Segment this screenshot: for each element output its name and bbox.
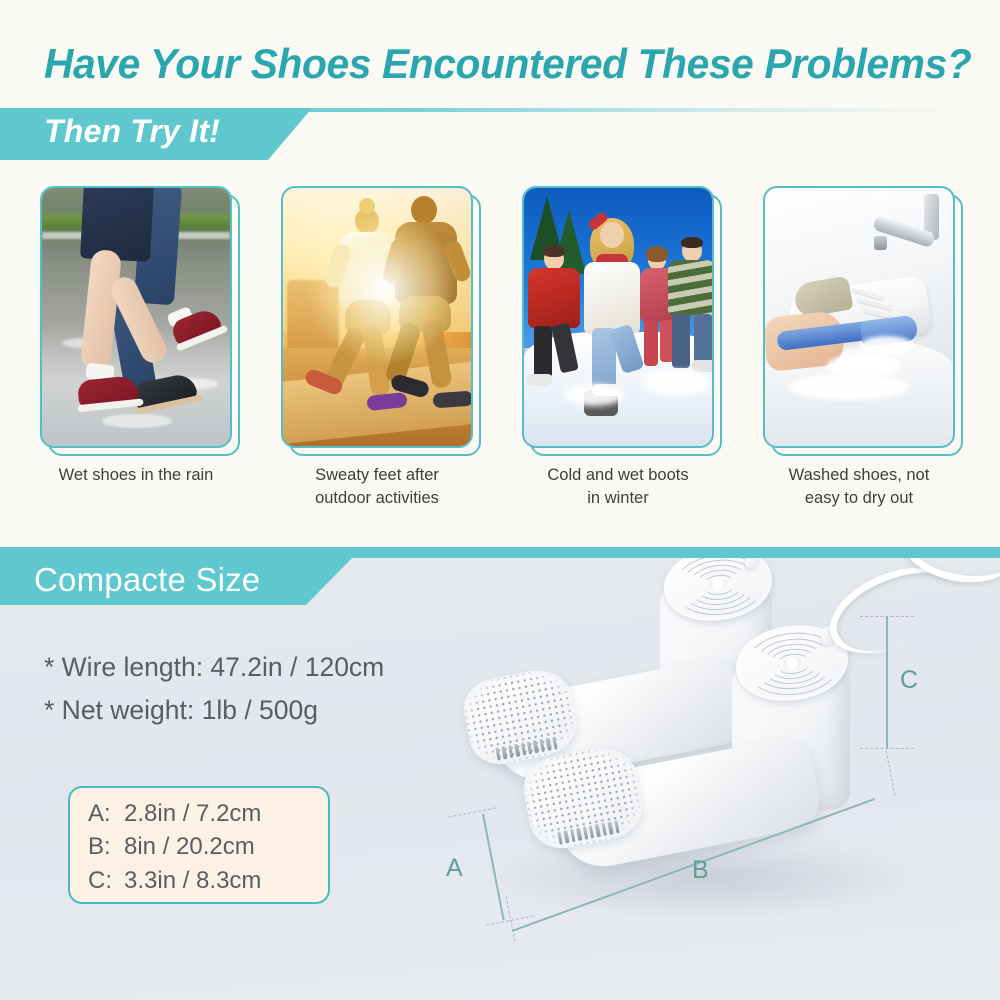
card-caption: Washed shoes, not easy to dry out: [747, 464, 971, 511]
dimension-key-a: A:: [88, 797, 124, 830]
problem-card-4: Washed shoes, not easy to dry out: [763, 186, 955, 448]
dimension-row-c: C:3.3in / 8.3cm: [88, 864, 328, 897]
dimension-value-a: 2.8in / 7.2cm: [124, 800, 261, 827]
size-section: Compacte Size * Wire length: 47.2in / 12…: [0, 558, 1000, 1000]
card-frame: [281, 186, 473, 448]
problem-card-1: Wet shoes in the rain: [40, 186, 232, 448]
problems-section: Have Your Shoes Encountered These Proble…: [0, 0, 1000, 547]
card-frame: [522, 186, 714, 448]
section-divider: [0, 547, 1000, 558]
card-caption: Wet shoes in the rain: [24, 464, 248, 487]
shoe-dryer-pair: C A B: [430, 558, 1000, 1000]
dim-label-a: A: [446, 854, 463, 883]
photo-runners-sunset: [281, 186, 473, 448]
spec-net-weight: * Net weight: 1lb / 500g: [44, 689, 384, 732]
card-caption: Sweaty feet after outdoor activities: [265, 464, 489, 511]
page-title: Have Your Shoes Encountered These Proble…: [44, 40, 946, 88]
dimension-row-b: B:8in / 20.2cm: [88, 830, 328, 863]
spec-list: * Wire length: 47.2in / 120cm * Net weig…: [44, 646, 384, 732]
dimension-value-c: 3.3in / 8.3cm: [124, 867, 261, 894]
problem-card-2: Sweaty feet after outdoor activities: [281, 186, 473, 448]
banner-label: Then Try It!: [44, 113, 220, 150]
problem-cards: Wet shoes in the rain: [0, 186, 1000, 516]
spec-wire-length: * Wire length: 47.2in / 120cm: [44, 646, 384, 689]
dim-tick-a-top: [448, 807, 495, 817]
photo-wet-shoes-rain: [40, 186, 232, 448]
card-frame: [763, 186, 955, 448]
dim-tick-c-bottom: [860, 748, 914, 749]
dimension-value-b: 8in / 20.2cm: [124, 833, 255, 860]
card-frame: [40, 186, 232, 448]
problem-card-3: Cold and wet boots in winter: [522, 186, 714, 448]
dim-label-c: C: [900, 666, 918, 695]
dimension-row-a: A:2.8in / 7.2cm: [88, 797, 328, 830]
dim-tick-b-right: [886, 750, 896, 795]
dimension-key-c: C:: [88, 864, 124, 897]
card-caption: Cold and wet boots in winter: [506, 464, 730, 511]
dim-label-b: B: [692, 856, 709, 885]
photo-friends-snow: [522, 186, 714, 448]
dim-line-c: [886, 616, 888, 748]
photo-washing-sneaker: [763, 186, 955, 448]
product-infographic: Have Your Shoes Encountered These Proble…: [0, 0, 1000, 1000]
size-banner-label: Compacte Size: [34, 561, 260, 599]
dimensions-box: A:2.8in / 7.2cm B:8in / 20.2cm C:3.3in /…: [68, 786, 330, 904]
then-try-it-banner: Then Try It!: [0, 108, 1000, 160]
dimension-key-b: B:: [88, 830, 124, 863]
